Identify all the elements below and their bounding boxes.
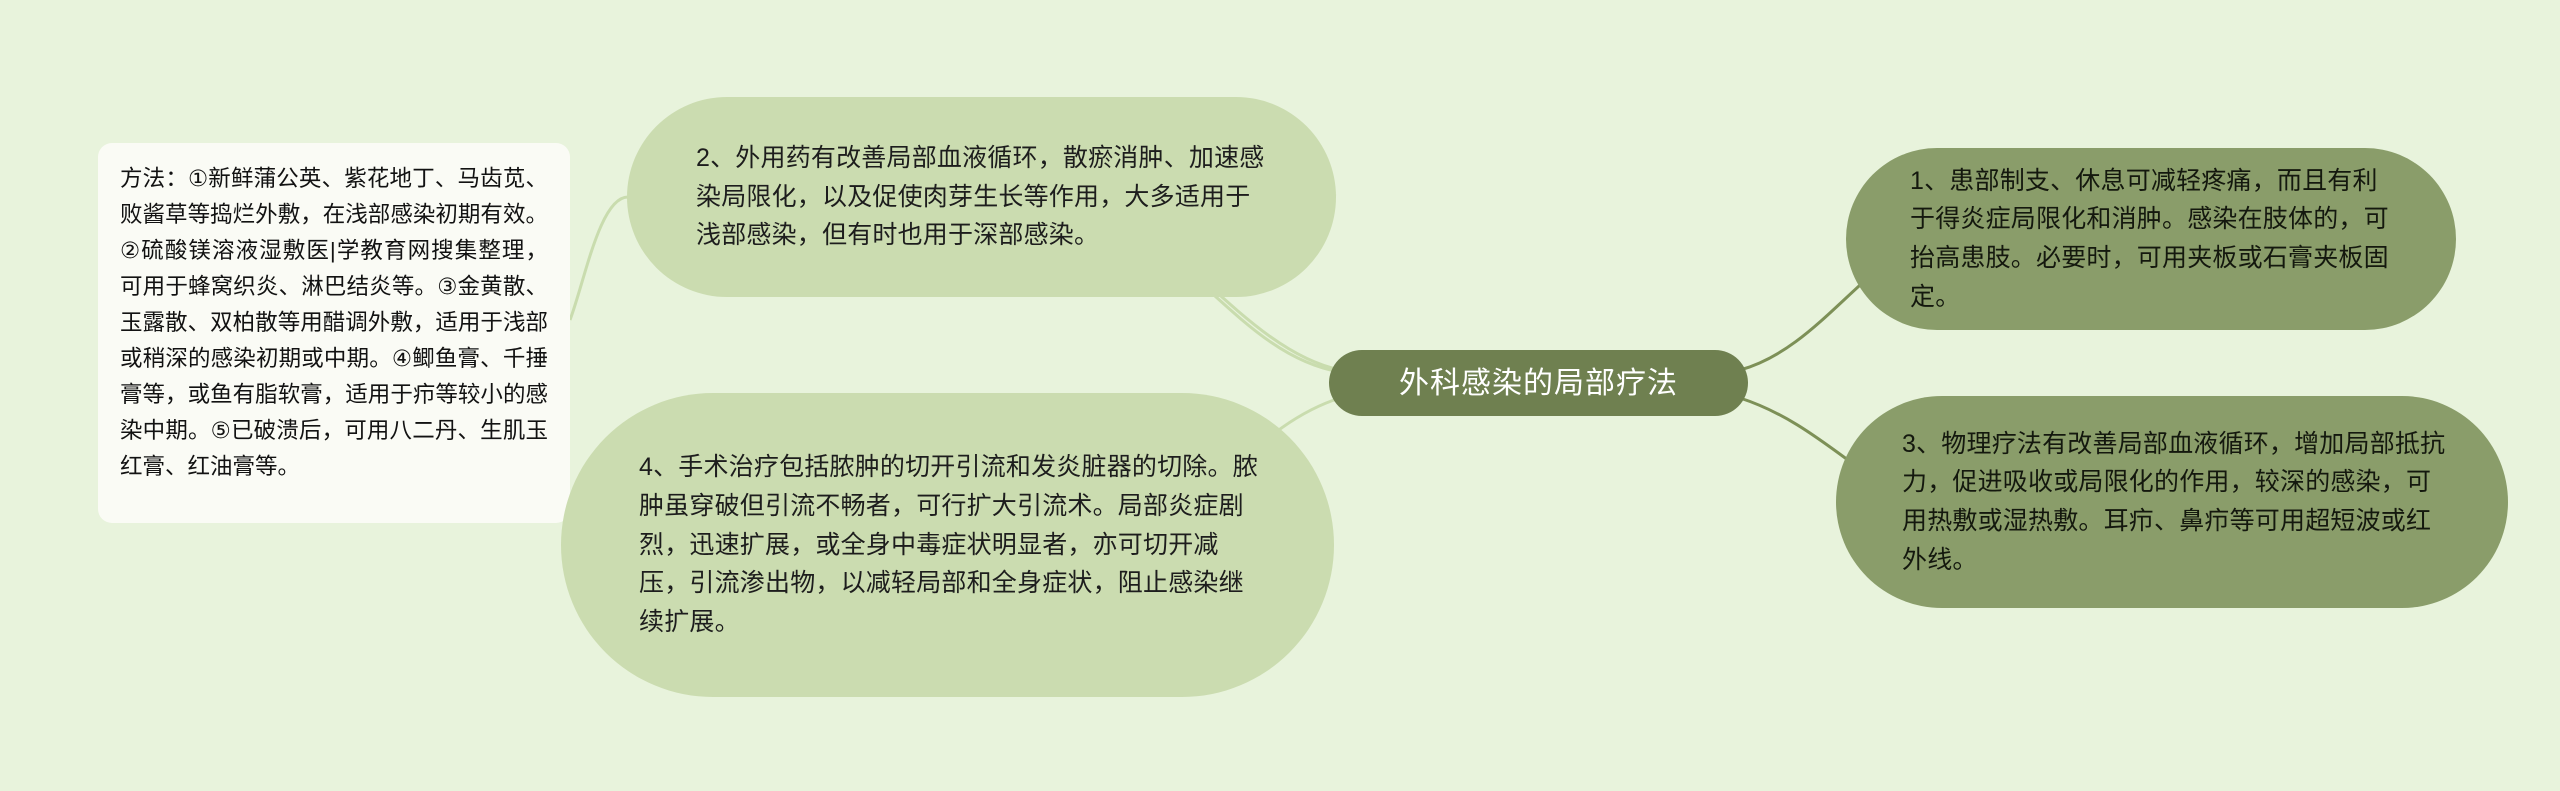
branch-node-4[interactable]: 4、手术治疗包括脓肿的切开引流和发炎脏器的切除。脓肿虽穿破但引流不畅者，可行扩大… (561, 393, 1334, 697)
branch-node-4-text: 4、手术治疗包括脓肿的切开引流和发炎脏器的切除。脓肿虽穿破但引流不畅者，可行扩大… (639, 448, 1264, 642)
branch-node-3-text: 3、物理疗法有改善局部血液循环，增加局部抵抗力，促进吸收或局限化的作用，较深的感… (1902, 425, 2452, 580)
note-card-text: 方法：①新鲜蒲公英、紫花地丁、马齿苋、败酱草等捣烂外敷，在浅部感染初期有效。②硫… (120, 161, 548, 485)
mindmap-canvas: 方法：①新鲜蒲公英、紫花地丁、马齿苋、败酱草等捣烂外敷，在浅部感染初期有效。②硫… (0, 0, 2560, 791)
branch-node-2-text: 2、外用药有改善局部血液循环，散瘀消肿、加速感染局限化，以及促使肉芽生长等作用，… (696, 139, 1273, 255)
edge-branch-2-to-note-card (570, 197, 628, 320)
branch-node-1[interactable]: 1、患部制支、休息可减轻疼痛，而且有利于得炎症局限化和消肿。感染在肢体的，可抬高… (1846, 148, 2456, 330)
note-card-method: 方法：①新鲜蒲公英、紫花地丁、马齿苋、败酱草等捣烂外敷，在浅部感染初期有效。②硫… (98, 143, 570, 523)
root-node-label: 外科感染的局部疗法 (1329, 367, 1748, 400)
branch-node-1-text: 1、患部制支、休息可减轻疼痛，而且有利于得炎症局限化和消肿。感染在肢体的，可抬高… (1910, 162, 2398, 317)
root-node[interactable]: 外科感染的局部疗法 (1329, 350, 1748, 416)
branch-node-2[interactable]: 2、外用药有改善局部血液循环，散瘀消肿、加速感染局限化，以及促使肉芽生长等作用，… (627, 97, 1336, 297)
branch-node-3[interactable]: 3、物理疗法有改善局部血液循环，增加局部抵抗力，促进吸收或局限化的作用，较深的感… (1836, 396, 2508, 608)
